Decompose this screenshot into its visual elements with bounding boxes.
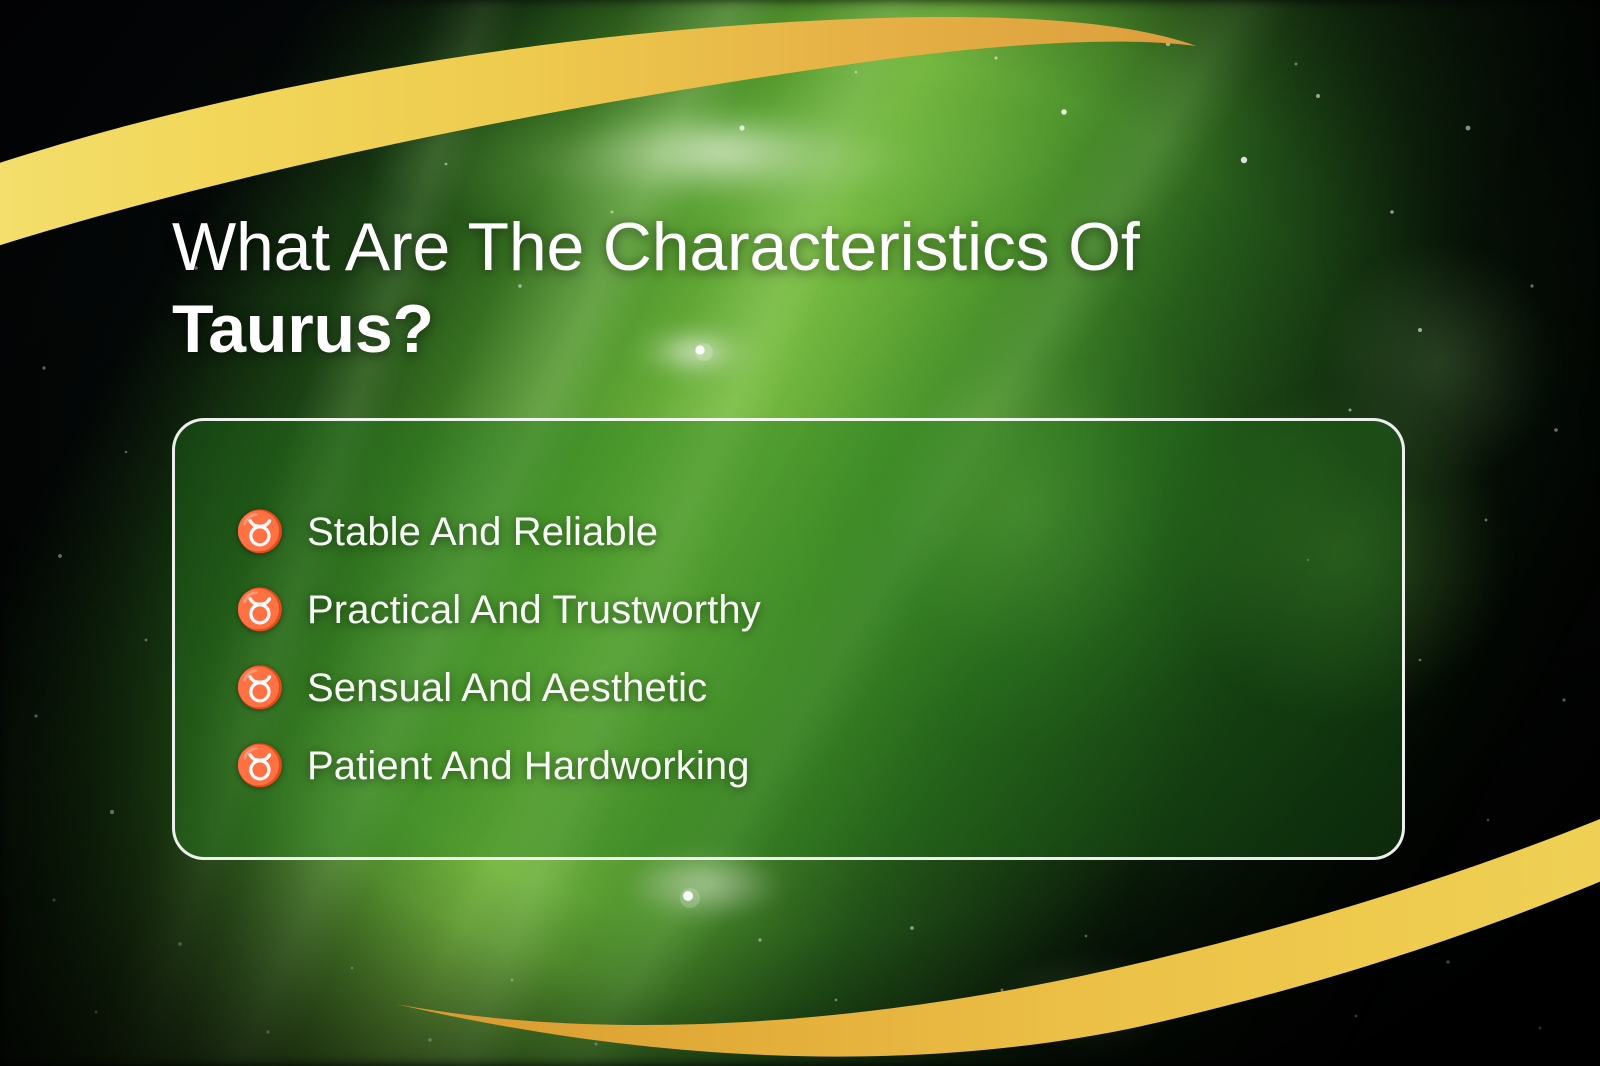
list-item: ♉ Patient And Hardworking (235, 727, 1372, 805)
list-item-label: Sensual And Aesthetic (307, 666, 1372, 711)
list-item-label: Stable And Reliable (307, 510, 1372, 555)
characteristics-card: ♉ Stable And Reliable ♉ Practical And Tr… (172, 418, 1405, 860)
list-item: ♉ Stable And Reliable (235, 493, 1372, 571)
taurus-zodiac-icon: ♉ (235, 590, 279, 630)
taurus-zodiac-icon: ♉ (235, 512, 279, 552)
infographic-canvas: What Are The Characteristics Of Taurus? … (0, 0, 1600, 1066)
taurus-zodiac-icon: ♉ (235, 668, 279, 708)
list-item: ♉ Sensual And Aesthetic (235, 649, 1372, 727)
page-title-line-1: What Are The Characteristics Of (172, 213, 1372, 281)
content-layer: What Are The Characteristics Of Taurus? … (0, 0, 1600, 1066)
taurus-zodiac-icon: ♉ (235, 746, 279, 786)
page-title: What Are The Characteristics Of Taurus? (172, 213, 1372, 363)
list-item-label: Practical And Trustworthy (307, 588, 1372, 633)
list-item: ♉ Practical And Trustworthy (235, 571, 1372, 649)
characteristics-list: ♉ Stable And Reliable ♉ Practical And Tr… (235, 493, 1372, 805)
list-item-label: Patient And Hardworking (307, 744, 1372, 789)
page-title-line-2: Taurus? (172, 295, 1372, 363)
